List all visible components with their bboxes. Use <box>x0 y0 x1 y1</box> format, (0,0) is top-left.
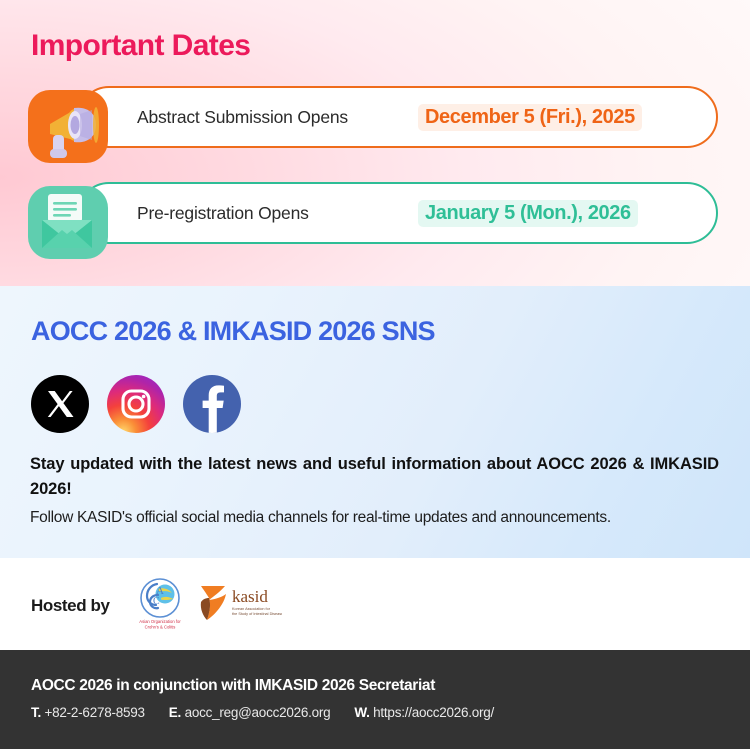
date-card: Abstract Submission Opens December 5 (Fr… <box>78 86 718 148</box>
important-dates-title: Important Dates <box>31 29 250 63</box>
sns-body: Stay updated with the latest news and us… <box>30 452 719 527</box>
date-value: January 5 (Mon.), 2026 <box>418 200 638 227</box>
sns-icon-list <box>31 375 241 433</box>
x-twitter-icon[interactable] <box>31 375 89 433</box>
sns-title: AOCC 2026 & IMKASID 2026 SNS <box>31 316 435 347</box>
hosted-by-label: Hosted by <box>31 596 110 616</box>
date-card: Pre-registration Opens January 5 (Mon.),… <box>78 182 718 244</box>
date-label: Abstract Submission Opens <box>137 107 348 128</box>
svg-text:kasid: kasid <box>232 587 268 606</box>
megaphone-icon <box>28 90 108 163</box>
footer-tel-value: +82-2-6278-8593 <box>45 705 145 720</box>
footer-email-key: E. <box>169 705 181 720</box>
footer-contact-line: T. +82-2-6278-8593 E. aocc_reg@aocc2026.… <box>31 705 494 720</box>
date-label: Pre-registration Opens <box>137 203 309 224</box>
svg-text:Asian Organization for: Asian Organization for <box>139 619 181 624</box>
footer-tel-key: T. <box>31 705 41 720</box>
date-value: December 5 (Fri.), 2025 <box>418 104 642 131</box>
svg-text:Korean Association for: Korean Association for <box>232 607 271 611</box>
sns-sub-text: Follow KASID's official social media cha… <box>30 509 719 527</box>
svg-text:C: C <box>153 596 160 607</box>
kasid-logo: kasid Korean Association for the Study o… <box>194 582 282 624</box>
sns-lead-text: Stay updated with the latest news and us… <box>30 452 719 502</box>
instagram-icon[interactable] <box>107 375 165 433</box>
date-row-pre-registration: Pre-registration Opens January 5 (Mon.),… <box>0 182 718 244</box>
footer: AOCC 2026 in conjunction with IMKASID 20… <box>0 650 750 749</box>
footer-email-value[interactable]: aocc_reg@aocc2026.org <box>185 705 331 720</box>
svg-text:the Study of Intestinal Diseas: the Study of Intestinal Diseases <box>232 612 282 616</box>
svg-text:Crohn's & Colitis: Crohn's & Colitis <box>145 625 176 630</box>
hosted-by-section: Hosted by A C Asian Organization for Cro… <box>0 558 750 650</box>
important-dates-section: Important Dates Abstract Submission Open… <box>0 0 750 286</box>
facebook-icon[interactable] <box>183 375 241 433</box>
date-row-abstract-submission: Abstract Submission Opens December 5 (Fr… <box>0 86 718 148</box>
aocc-logo: A C Asian Organization for Crohn's & Col… <box>134 576 186 632</box>
footer-secretariat-title: AOCC 2026 in conjunction with IMKASID 20… <box>31 677 435 695</box>
envelope-letter-icon <box>28 186 108 259</box>
important-dates-sns-panel: Important Dates Abstract Submission Open… <box>0 0 750 749</box>
sns-section: AOCC 2026 & IMKASID 2026 SNS <box>0 286 750 558</box>
footer-web-value[interactable]: https://aocc2026.org/ <box>373 705 494 720</box>
footer-web-key: W. <box>354 705 369 720</box>
